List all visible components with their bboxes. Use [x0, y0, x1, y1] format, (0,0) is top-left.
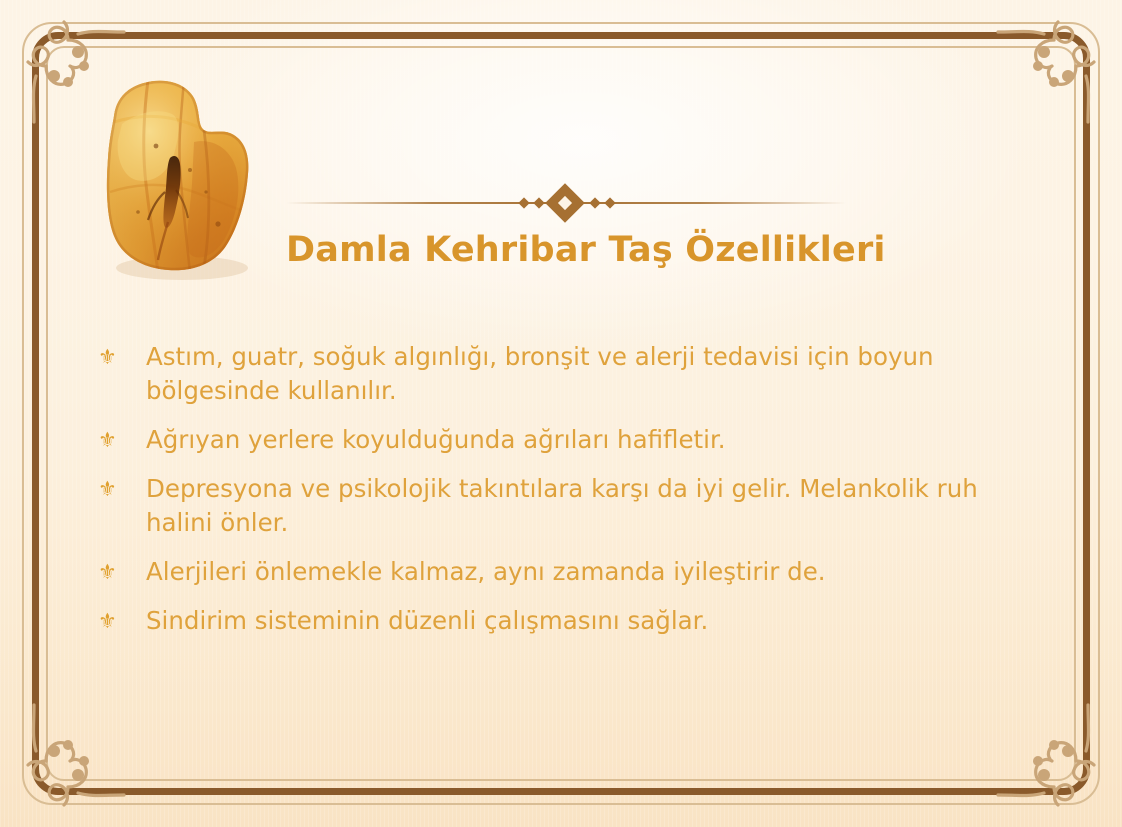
divider-dot-right-outer [604, 197, 615, 208]
list-item: ⚜ Astım, guatr, soğuk algınlığı, bronşit… [98, 340, 1042, 408]
feature-text: Alerjileri önlemekle kalmaz, aynı zamand… [146, 555, 826, 589]
page-title: Damla Kehribar Taş Özellikleri [286, 230, 846, 270]
feature-text: Ağrıyan yerlere koyulduğunda ağrıları ha… [146, 423, 726, 457]
fleur-de-lis-icon: ⚜ [98, 340, 128, 374]
diamond-divider-ornament [286, 186, 846, 220]
list-item: ⚜ Ağrıyan yerlere koyulduğunda ağrıları … [98, 423, 1042, 457]
divider-dot-right-inner [589, 197, 600, 208]
feature-text: Sindirim sisteminin düzenli çalışmasını … [146, 604, 708, 638]
divider-dot-left-inner [533, 197, 544, 208]
fleur-de-lis-icon: ⚜ [98, 604, 128, 638]
info-card: Damla Kehribar Taş Özellikleri ⚜ Astım, … [0, 0, 1122, 827]
list-item: ⚜ Depresyona ve psikolojik takıntılara k… [98, 472, 1042, 540]
divider-diamond-icon [545, 183, 585, 223]
list-item: ⚜ Alerjileri önlemekle kalmaz, aynı zama… [98, 555, 1042, 589]
divider-dot-left-outer [518, 197, 529, 208]
corner-ornament-bottom-left [6, 703, 126, 823]
fleur-de-lis-icon: ⚜ [98, 555, 128, 589]
fleur-de-lis-icon: ⚜ [98, 472, 128, 506]
corner-ornament-top-right [996, 4, 1116, 124]
list-item: ⚜ Sindirim sisteminin düzenli çalışmasın… [98, 604, 1042, 638]
amber-stone-image [86, 72, 272, 284]
fleur-de-lis-icon: ⚜ [98, 423, 128, 457]
corner-ornament-bottom-right [996, 703, 1116, 823]
feature-list: ⚜ Astım, guatr, soğuk algınlığı, bronşit… [98, 340, 1042, 653]
header: Damla Kehribar Taş Özellikleri [286, 186, 846, 270]
feature-text: Astım, guatr, soğuk algınlığı, bronşit v… [146, 340, 986, 408]
feature-text: Depresyona ve psikolojik takıntılara kar… [146, 472, 986, 540]
